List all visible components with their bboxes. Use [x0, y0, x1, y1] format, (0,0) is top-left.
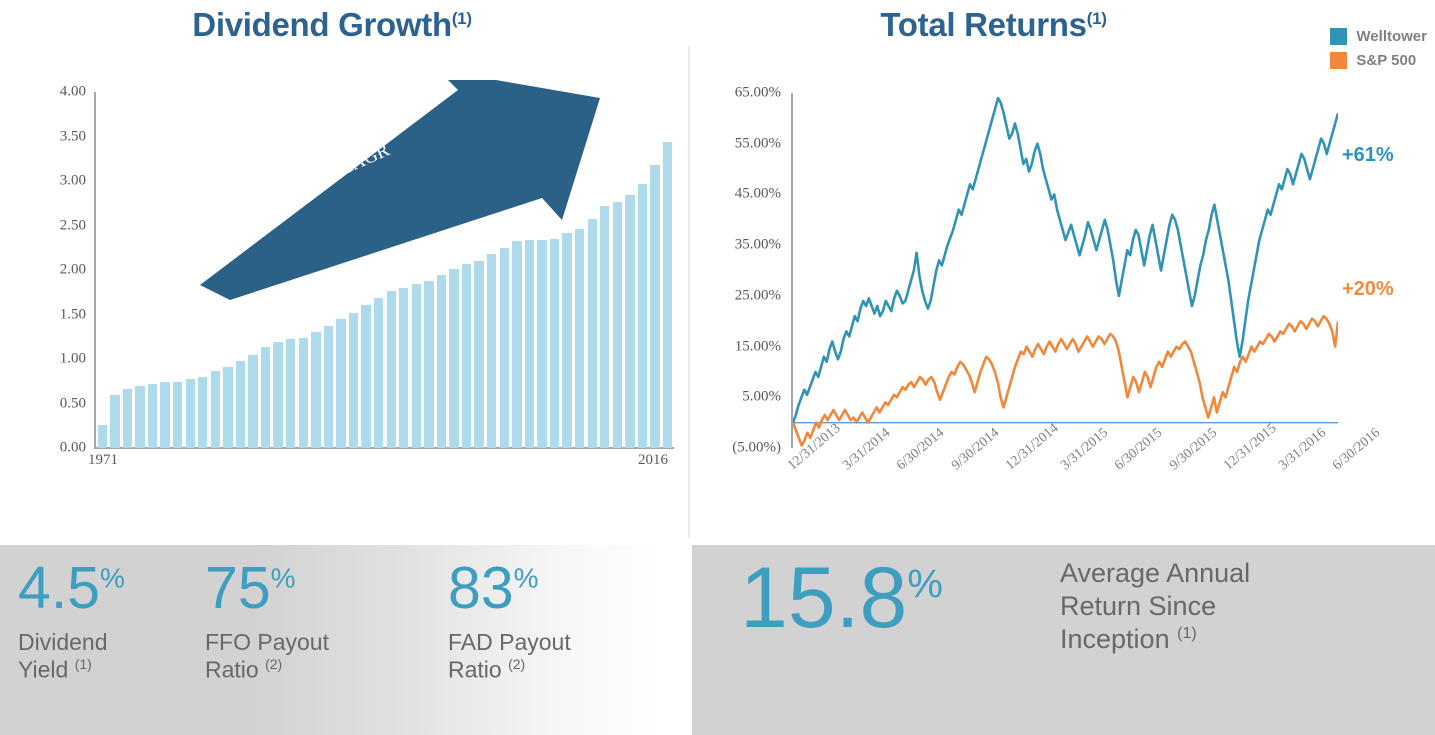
bar-1993: [374, 298, 383, 448]
bar-ytick-0.00: 0.00: [60, 440, 86, 457]
bar-1986: [286, 339, 295, 448]
stat-label-line1: FFO Payout: [205, 629, 329, 655]
bar-1981: [223, 367, 232, 448]
bar-1999: [449, 269, 458, 448]
bar-2008: [562, 233, 571, 448]
stat-number: 4.5: [18, 555, 100, 621]
bar-2016: [663, 142, 672, 448]
bar-1988: [311, 332, 320, 448]
sp500-line: [793, 316, 1338, 445]
bar-ytick-4.00: 4.00: [60, 84, 86, 101]
stat-dividend-yield: 4.5% Dividend Yield (1): [18, 559, 125, 684]
stat-number: 15.8: [740, 550, 907, 646]
bar-1984: [261, 347, 270, 448]
stat-label-line1: Dividend: [18, 629, 108, 655]
dividend-growth-panel: Dividend Growth(1) 0.000.501.001.502.002…: [0, 0, 684, 545]
bar-2009: [575, 229, 584, 448]
stat-footnote: (1): [1177, 625, 1197, 642]
total-returns-title: Total Returns(1): [622, 6, 1365, 44]
bar-2011: [600, 206, 609, 448]
welltower-end-annotation: +61%: [1342, 144, 1394, 167]
bar-2010: [588, 219, 597, 448]
stat-value-dividend-yield: 4.5%: [18, 559, 125, 618]
line-ytick-2500: 25.00%: [735, 287, 781, 304]
stat-average-annual-return: 15.8%: [740, 555, 943, 641]
bar-2005: [525, 240, 534, 448]
title-footnote: (1): [452, 9, 472, 28]
stat-value-ffo-payout-ratio: 75%: [205, 559, 329, 618]
bar-ytick-3.00: 3.00: [60, 173, 86, 190]
bar-2014: [638, 184, 647, 448]
bar-1994: [387, 291, 396, 448]
bar-2012: [613, 202, 622, 448]
stat-label-line2: Return Since: [1060, 591, 1216, 621]
bar-1987: [299, 338, 308, 448]
bar-1979: [198, 377, 207, 448]
bar-ytick-0.50: 0.50: [60, 395, 86, 412]
line-ytick-4500: 45.00%: [735, 186, 781, 203]
bar-1980: [211, 371, 220, 448]
bar-1998: [437, 275, 446, 448]
stat-footnote: (2): [508, 656, 525, 672]
legend-label-welltower: Welltower: [1356, 28, 1427, 45]
bar-ytick-2.50: 2.50: [60, 217, 86, 234]
bar-2015: [650, 165, 659, 448]
stat-number: 75: [205, 555, 271, 621]
bar-2004: [512, 241, 521, 448]
bar-1989: [324, 326, 333, 448]
stat-number: 83: [448, 555, 514, 621]
bar-ytick-2.00: 2.00: [60, 262, 86, 279]
stat-fad-payout-ratio: 83% FAD Payout Ratio (2): [448, 559, 571, 684]
bar-ytick-3.50: 3.50: [60, 128, 86, 145]
bar-chart-x-start-label: 1971: [88, 452, 118, 469]
bar-2013: [625, 195, 634, 448]
bar-1976: [160, 382, 169, 448]
chart-legend: Welltower S&P 500: [1330, 28, 1427, 76]
stat-unit: %: [907, 562, 943, 606]
bar-1972: [110, 395, 119, 448]
bar-1974: [135, 386, 144, 448]
line-ytick-500: (5.00%): [732, 440, 781, 457]
stat-footnote: (2): [265, 656, 282, 672]
stat-label-line1: Average Annual: [1060, 558, 1250, 588]
stat-label-line1: FAD Payout: [448, 629, 571, 655]
line-ytick-3500: 35.00%: [735, 237, 781, 254]
legend-item-sp500[interactable]: S&P 500: [1330, 52, 1427, 69]
stat-label-fad-payout-ratio: FAD Payout Ratio (2): [448, 629, 571, 684]
line-ytick-5500: 55.00%: [735, 135, 781, 152]
stat-label-line2: Ratio: [205, 657, 259, 683]
bar-1982: [236, 361, 245, 448]
stat-unit: %: [514, 562, 539, 593]
welltower-line: [793, 98, 1338, 423]
bar-1990: [336, 319, 345, 448]
bar-1991: [349, 313, 358, 448]
stat-unit: %: [100, 562, 125, 593]
stat-ffo-payout-ratio: 75% FFO Payout Ratio (2): [205, 559, 329, 684]
stat-label-ffo-payout-ratio: FFO Payout Ratio (2): [205, 629, 329, 684]
bar-2007: [550, 239, 559, 448]
legend-swatch-welltower: [1330, 28, 1347, 45]
bar-1978: [186, 379, 195, 448]
stat-footnote: (1): [75, 656, 92, 672]
stat-unit: %: [271, 562, 296, 593]
stat-label-line3: Inception: [1060, 624, 1170, 654]
line-ytick-500: 5.00%: [742, 389, 781, 406]
bar-ytick-1.50: 1.50: [60, 306, 86, 323]
stat-value-fad-payout-ratio: 83%: [448, 559, 571, 618]
legend-swatch-sp500: [1330, 52, 1347, 69]
stat-label-line2: Yield: [18, 657, 68, 683]
line-series-group: [793, 93, 1338, 448]
bar-1975: [148, 384, 157, 448]
total-returns-title-text: Total Returns: [880, 6, 1086, 43]
bar-1983: [248, 355, 257, 448]
bar-2003: [500, 248, 509, 448]
stat-value-average-annual-return: 15.8%: [740, 555, 943, 641]
bar-ytick-1.00: 1.00: [60, 351, 86, 368]
dividend-growth-title: Dividend Growth(1): [0, 6, 674, 44]
bar-1997: [424, 281, 433, 448]
bar-2000: [462, 264, 471, 448]
bar-1971: [98, 425, 107, 448]
line-ytick-1500: 15.00%: [735, 338, 781, 355]
sp500-end-annotation: +20%: [1342, 278, 1394, 301]
dividend-stats-band: 4.5% Dividend Yield (1) 75% FFO Payout R…: [0, 545, 662, 735]
legend-label-sp500: S&P 500: [1356, 52, 1416, 69]
bar-2002: [487, 254, 496, 448]
bar-1995: [399, 288, 408, 448]
bar-1996: [412, 284, 421, 448]
bar-1973: [123, 389, 132, 448]
average-return-band: 15.8% Average Annual Return Since Incept…: [692, 545, 1435, 735]
stat-label-line2: Ratio: [448, 657, 502, 683]
total-returns-title-footnote: (1): [1087, 9, 1107, 28]
stat-label-dividend-yield: Dividend Yield (1): [18, 629, 125, 684]
page-title-text: Dividend Growth: [192, 6, 452, 43]
bar-1977: [173, 382, 182, 448]
panel-divider: [688, 46, 690, 538]
line-chart-plot-area: (5.00%)5.00%15.00%25.00%35.00%45.00%55.0…: [793, 93, 1338, 448]
bar-2006: [537, 240, 546, 448]
bar-2001: [474, 261, 483, 448]
stat-label-average-annual-return: Average Annual Return Since Inception (1…: [1060, 557, 1250, 656]
bar-1992: [361, 305, 370, 448]
line-ytick-6500: 65.00%: [735, 85, 781, 102]
bar-chart-x-end-label: 2016: [638, 452, 668, 469]
legend-item-welltower[interactable]: Welltower: [1330, 28, 1427, 45]
bar-1985: [273, 342, 282, 448]
